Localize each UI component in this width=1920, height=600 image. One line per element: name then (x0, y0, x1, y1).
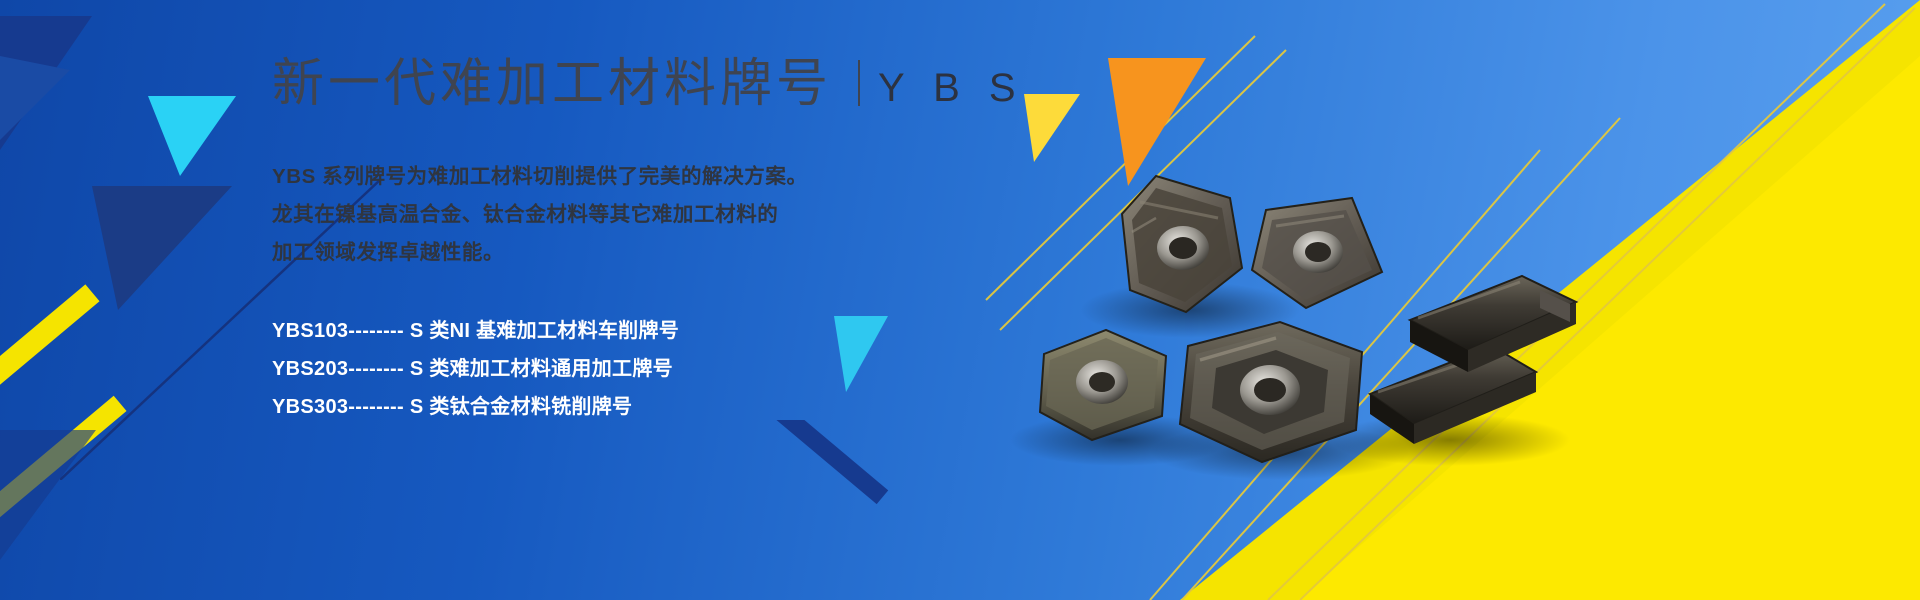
navy-triangle-top-left-2 (0, 56, 70, 140)
page-title-brand: Y B S (878, 68, 1025, 110)
product-banner: 新一代难加工材料牌号 Y B S YBS 系列牌号为难加工材料切削提供了完美的解… (0, 0, 1920, 600)
insert-bar-long-right (1410, 276, 1576, 372)
cyan-triangle-left (148, 96, 236, 176)
title-separator (858, 60, 860, 106)
product-insert-group (980, 140, 1600, 500)
navy-bar-bottom (740, 420, 940, 600)
banner-title-row: 新一代难加工材料牌号 Y B S (272, 58, 1172, 110)
page-title: 新一代难加工材料牌号 (272, 58, 832, 110)
